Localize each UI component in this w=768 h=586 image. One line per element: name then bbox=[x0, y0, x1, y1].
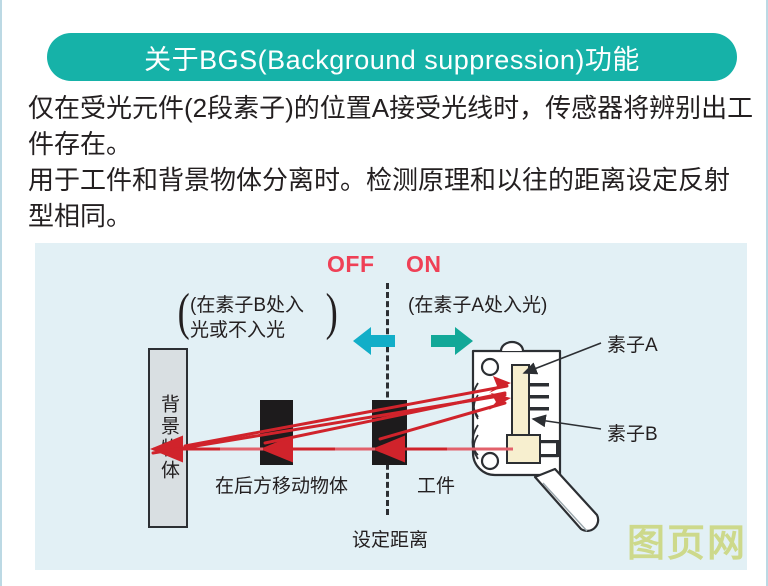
caption-off-line2: 光或不入光 bbox=[190, 318, 304, 343]
label-element-a: 素子A bbox=[607, 330, 658, 357]
page-title: 关于BGS(Background suppression)功能 bbox=[144, 38, 640, 77]
caption-on: (在素子A处入光) bbox=[408, 293, 547, 318]
left-paren-open: ( bbox=[178, 287, 190, 339]
set-distance-dashed-line bbox=[386, 283, 389, 515]
caption-off-line1: (在素子B处入 bbox=[190, 293, 304, 318]
caption-off: (在素子B处入 光或不入光 bbox=[190, 293, 304, 343]
body-paragraph-2: 用于工件和背景物体分离时。检测原理和以往的距离设定反射型相同。 bbox=[28, 162, 754, 234]
watermark: 图页网® bbox=[627, 524, 747, 570]
body-copy: 仅在受光元件(2段素子)的位置A接受光线时，传感器将辨别出工件存在。 用于工件和… bbox=[28, 90, 754, 234]
label-rear-moving-object: 在后方移动物体 bbox=[215, 471, 348, 498]
left-paren-close: ) bbox=[326, 287, 338, 339]
body-paragraph-1: 仅在受光元件(2段素子)的位置A接受光线时，传感器将辨别出工件存在。 bbox=[28, 90, 754, 162]
label-element-b: 素子B bbox=[607, 419, 658, 446]
block-workpiece bbox=[372, 400, 407, 465]
state-label-on: ON bbox=[406, 251, 442, 278]
title-bar: 关于BGS(Background suppression)功能 bbox=[47, 33, 737, 81]
background-object: 背景物体 bbox=[148, 348, 188, 528]
page-root: 关于BGS(Background suppression)功能 仅在受光元件(2… bbox=[0, 0, 768, 586]
leader-lines bbox=[524, 343, 601, 429]
label-set-distance: 设定距离 bbox=[352, 525, 428, 552]
arrow-on-right-icon bbox=[431, 327, 473, 355]
light-beams bbox=[153, 376, 513, 453]
diagram-panel: OFF ON ( (在素子B处入 光或不入光 ) (在素子A处入光) 背景物体 … bbox=[35, 243, 747, 570]
sensor-head bbox=[473, 342, 599, 531]
label-workpiece: 工件 bbox=[417, 471, 455, 498]
state-label-off: OFF bbox=[327, 251, 375, 278]
background-object-label: 背景物体 bbox=[157, 394, 179, 482]
watermark-text: 图页网 bbox=[627, 523, 747, 565]
block-rear-moving-object bbox=[260, 400, 293, 465]
